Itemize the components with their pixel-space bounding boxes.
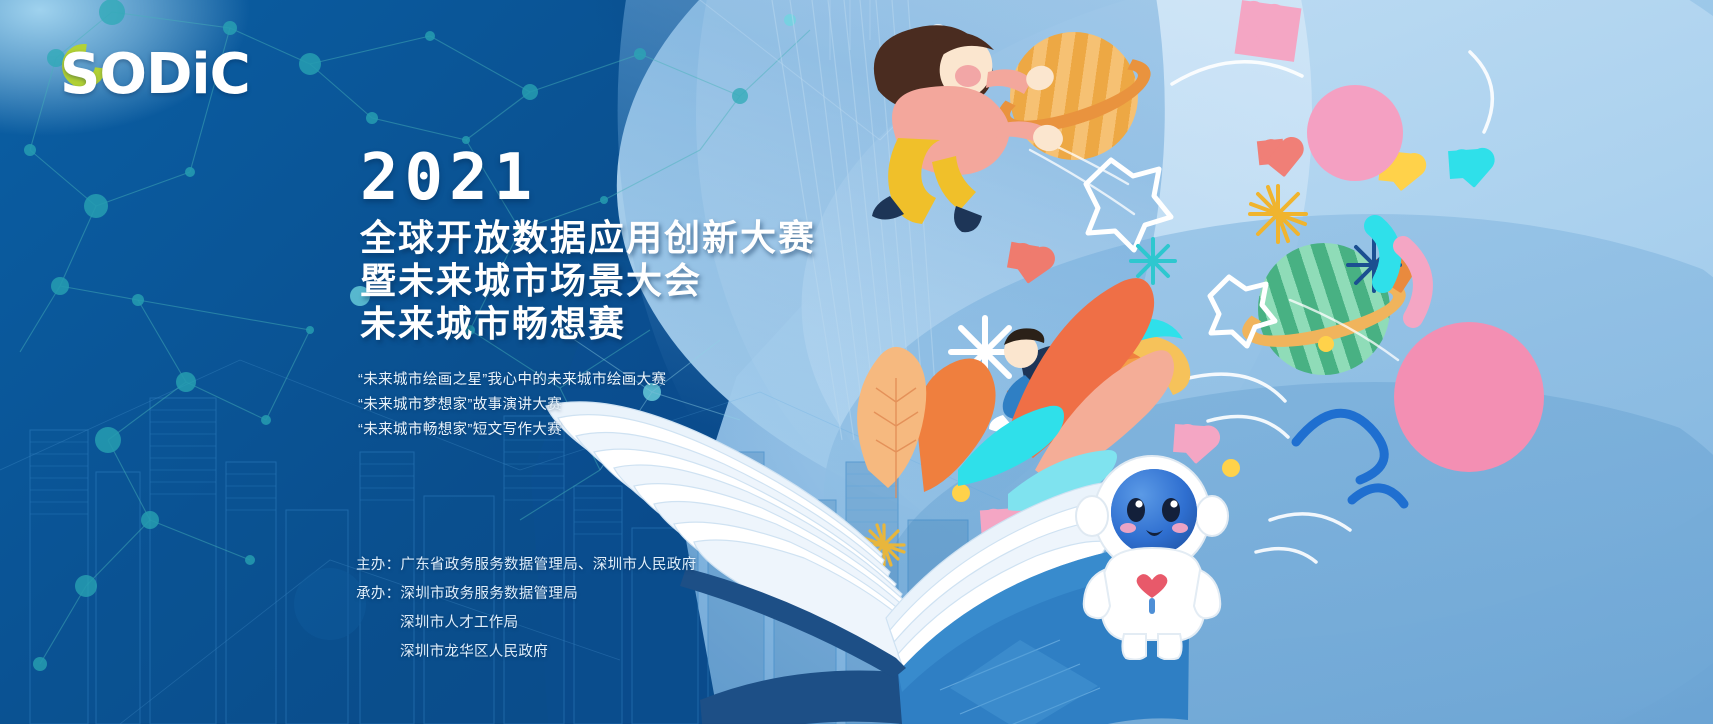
yellow-dot <box>1318 336 1334 352</box>
astronaut-mascot <box>1072 452 1232 660</box>
organizer-line: 承办：深圳市政务服务数据管理局 <box>356 580 696 609</box>
heart-icon <box>1007 242 1039 272</box>
host-label: 主办： <box>356 557 400 573</box>
heart-icon <box>1448 149 1480 179</box>
organizer-value: 深圳市政务服务数据管理局 <box>400 586 578 602</box>
host-value: 广东省政务服务数据管理局、深圳市人民政府 <box>400 557 696 573</box>
yellow-dot <box>952 484 970 502</box>
sodic-logo[interactable]: SODiC <box>60 40 300 110</box>
logo-wordmark: SODiC <box>60 40 250 110</box>
subtitle-item: “未来城市畅想家”短文写作大赛 <box>358 418 666 443</box>
subtitle-list: “未来城市绘画之星”我心中的未来城市绘画大赛 “未来城市梦想家”故事演讲大赛 “… <box>358 368 666 443</box>
orange-planet <box>1010 32 1138 160</box>
organizer-value: 深圳市龙华区人民政府 <box>356 638 696 667</box>
title-line-3: 未来城市畅想赛 <box>360 303 626 345</box>
event-year: 2021 <box>360 146 538 210</box>
heart-icon <box>980 506 1054 575</box>
organizer-value: 深圳市人才工作局 <box>356 609 696 638</box>
subtitle-item: “未来城市绘画之星”我心中的未来城市绘画大赛 <box>358 368 666 393</box>
heart-icon <box>1235 0 1302 62</box>
heart-icon <box>1370 256 1396 280</box>
pink-circle <box>1307 85 1403 181</box>
host-line: 主办：广东省政务服务数据管理局、深圳市人民政府 <box>356 551 696 580</box>
promo-banner: SODiC 2021 全球开放数据应用创新大赛 暨未来城市场景大会 未来城市畅想… <box>0 0 1713 724</box>
organizer-label: 承办： <box>356 586 400 602</box>
organizer-block: 主办：广东省政务服务数据管理局、深圳市人民政府 承办：深圳市政务服务数据管理局 … <box>356 551 696 667</box>
title-line-1: 全球开放数据应用创新大赛 <box>360 217 816 259</box>
heart-icon <box>1173 424 1205 454</box>
title-line-2: 暨未来城市场景大会 <box>360 260 702 302</box>
heart-icon <box>1257 139 1285 166</box>
pink-circle-large <box>1394 322 1544 472</box>
subtitle-item: “未来城市梦想家”故事演讲大赛 <box>358 393 666 418</box>
